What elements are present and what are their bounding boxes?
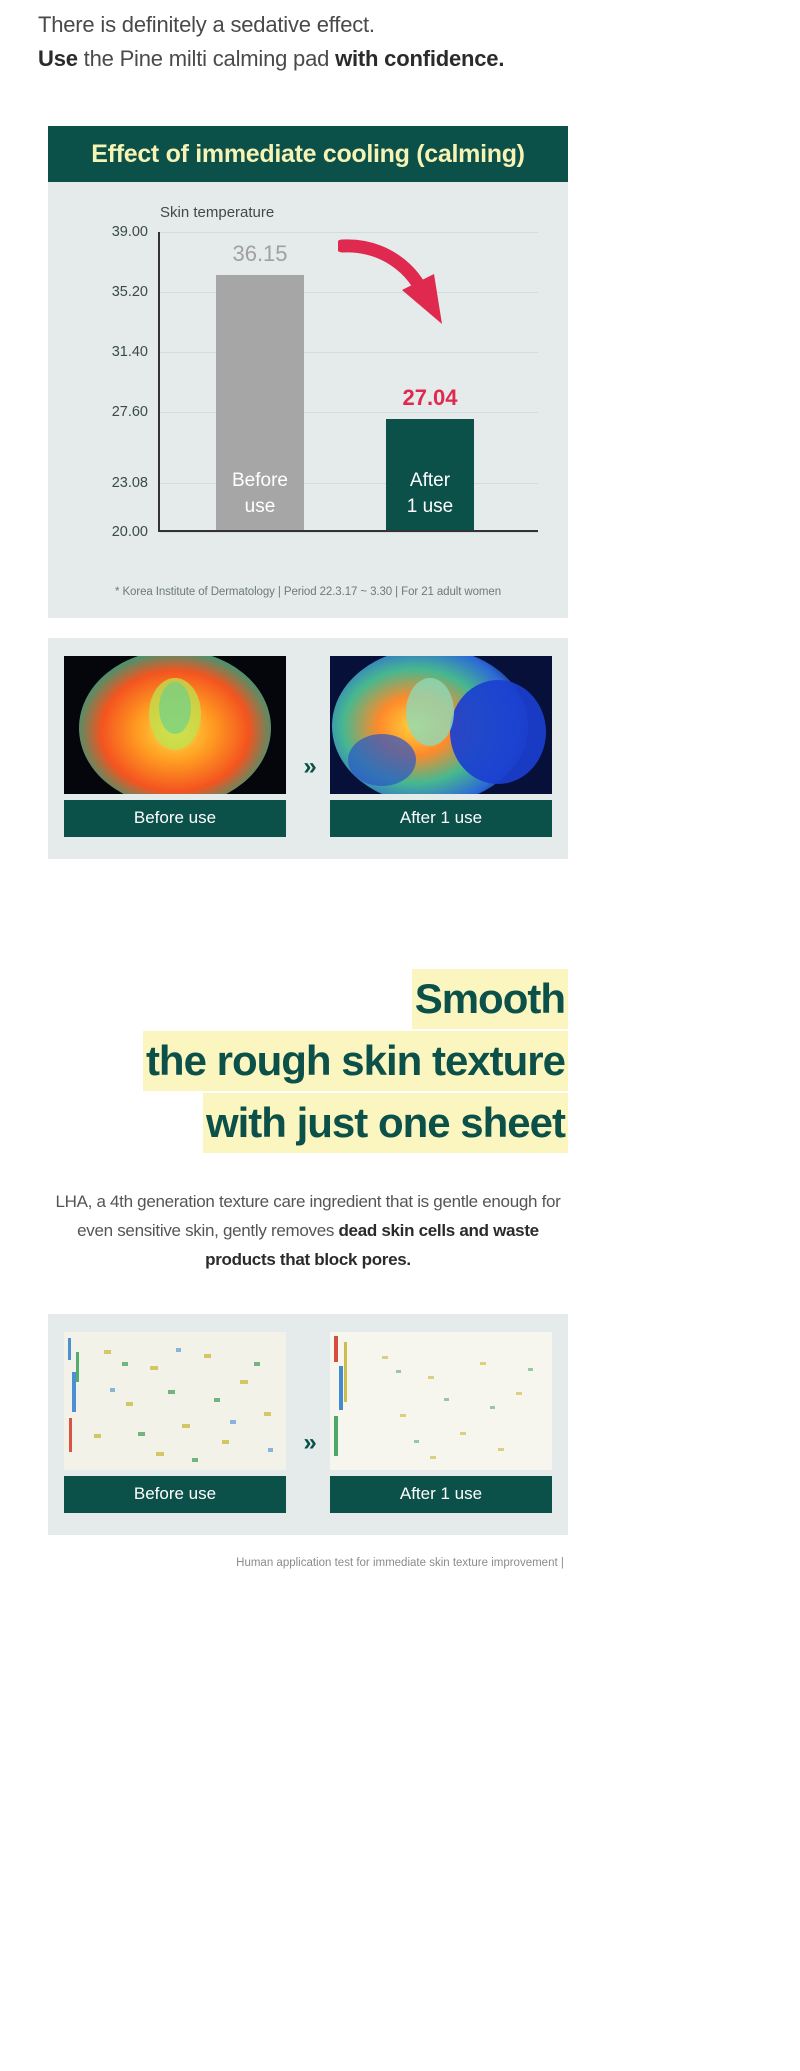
intro-bold-use: Use [38,46,78,71]
headline-row-3: with just one sheet [48,1093,568,1153]
texture-before-col: Before use [64,1332,286,1513]
headline-row-1: Smooth [48,969,568,1029]
headline-line-2: the rough skin texture [143,1031,568,1091]
thermal-before-col: Before use [64,656,286,837]
y-tick-label: 23.08 [112,475,148,491]
thermal-compare-block: Before use » A [48,638,568,859]
thermal-face-cool-image [330,656,552,794]
gridline [160,532,538,533]
skin-texture-rough-image [64,1332,286,1470]
bar-value-after: 27.04 [402,385,457,411]
intro-mid-text: the Pine milti calming pad [78,46,335,71]
texture-compare-block: Before use » [48,1314,568,1535]
bar-after-use: 27.04 After1 use [386,419,474,530]
cooling-chart-card: Effect of immediate cooling (calming) Sk… [48,126,568,618]
bar-value-before: 36.15 [232,241,287,267]
texture-after-col: After 1 use [330,1332,552,1513]
headline-line-1: Smooth [412,969,568,1029]
page-root: There is definitely a sedative effect. U… [0,0,800,2071]
texture-headline: Smooth the rough skin texture with just … [48,969,568,1153]
chart-canvas: 39.0035.2031.4027.6023.0820.00 36.15 Bef… [158,232,538,532]
bar-caption-after: After1 use [407,468,453,520]
bar-caption-before: Beforeuse [232,468,288,520]
y-tick-label: 39.00 [112,224,148,240]
intro-bold-confidence: with confidence. [335,46,504,71]
chart-footnote: * Korea Institute of Dermatology | Perio… [48,582,568,618]
y-axis-line [158,232,160,532]
chart-y-axis-label: Skin temperature [160,204,274,221]
thermal-after-col: After 1 use [330,656,552,837]
texture-before-caption: Before use [64,1476,286,1513]
skin-texture-smooth-image [330,1332,552,1470]
intro-block: There is definitely a sedative effect. U… [0,0,800,76]
bottom-footnote: Human application test for immediate ski… [0,1557,800,1569]
thermal-after-caption: After 1 use [330,800,552,837]
chart-title: Effect of immediate cooling (calming) [91,140,524,169]
y-tick-label: 35.20 [112,284,148,300]
headline-row-2: the rough skin texture [48,1031,568,1091]
bar-before-use: 36.15 Beforeuse [216,275,304,530]
intro-line-2: Use the Pine milti calming pad with conf… [38,42,800,76]
y-tick-label: 27.60 [112,404,148,420]
thermal-before-caption: Before use [64,800,286,837]
y-tick-label: 20.00 [112,524,148,540]
intro-line-1: There is definitely a sedative effect. [38,8,800,42]
texture-compare-arrow-icon: » [303,1429,312,1457]
texture-after-caption: After 1 use [330,1476,552,1513]
headline-line-3: with just one sheet [203,1093,568,1153]
chart-plot-area: Skin temperature 39.0035.2031.4027.6023.… [48,182,568,582]
decrease-arrow-icon [338,228,458,338]
thermal-face-warm-image [64,656,286,794]
chart-title-bar: Effect of immediate cooling (calming) [48,126,568,182]
texture-lead-paragraph: LHA, a 4th generation texture care ingre… [48,1187,568,1274]
y-tick-label: 31.40 [112,344,148,360]
thermal-compare-arrow-icon: » [303,753,312,781]
